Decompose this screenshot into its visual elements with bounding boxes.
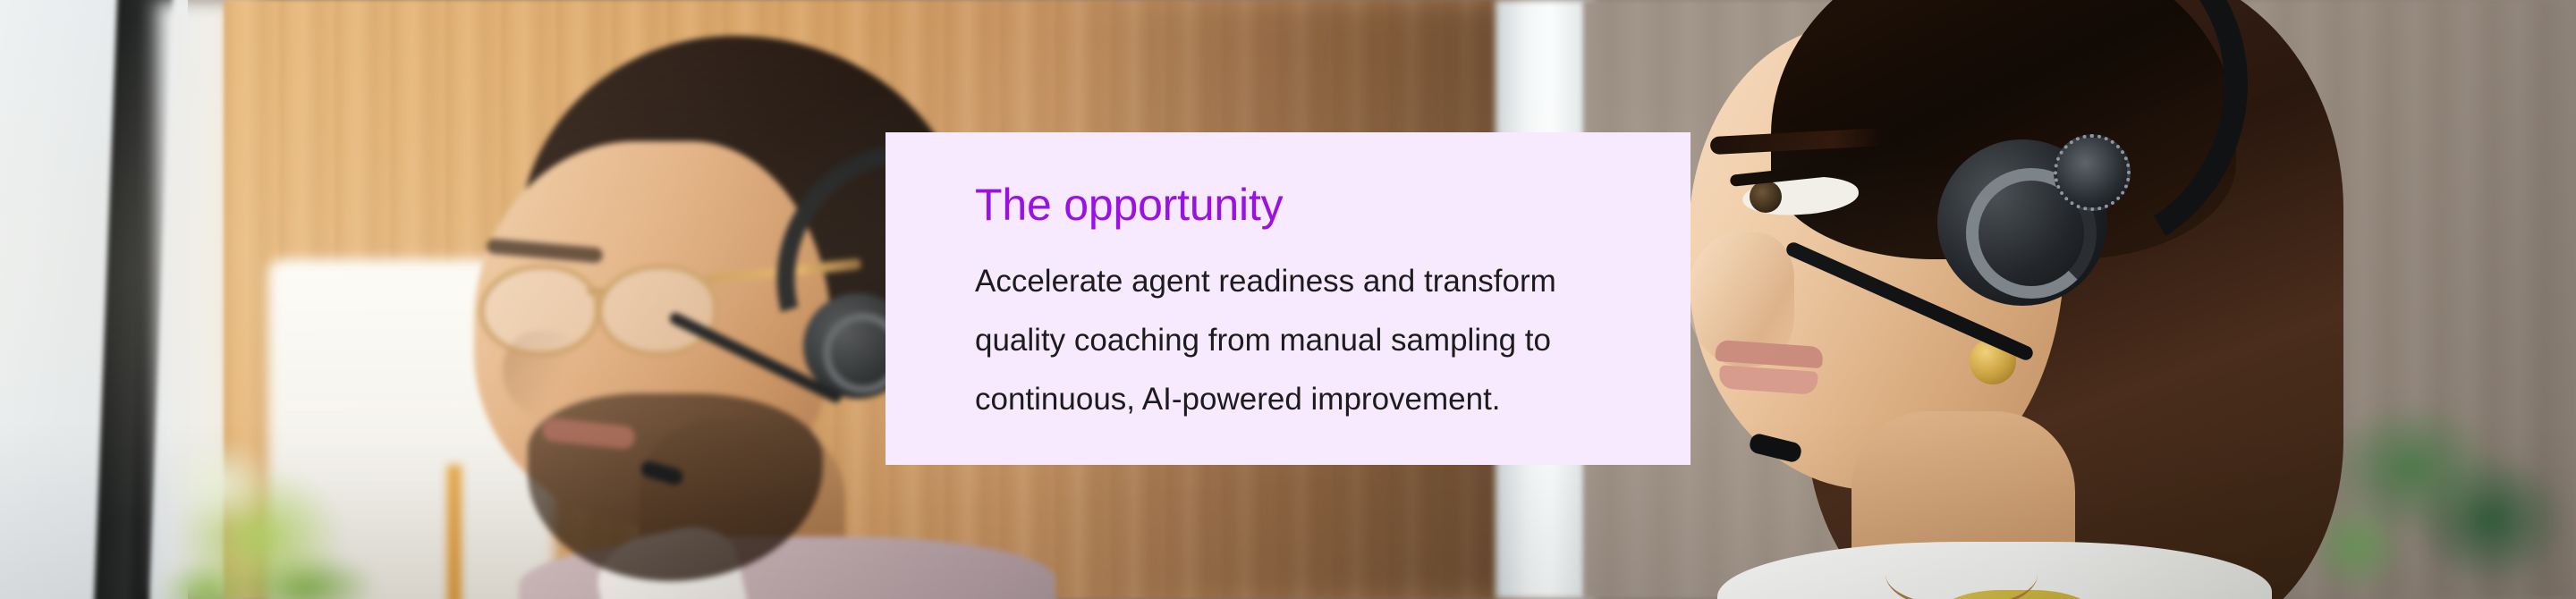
right-agent-iris [1750, 181, 1782, 213]
left-agent-glasses-lens [479, 265, 599, 356]
opportunity-callout-panel: The opportunity Accelerate agent readine… [885, 132, 1690, 465]
callout-title: The opportunity [975, 179, 1630, 231]
hero-banner: The opportunity Accelerate agent readine… [0, 0, 2576, 599]
right-agent-necklace [1885, 538, 2038, 599]
right-agent-figure [1664, 0, 2361, 599]
callout-body-text: Accelerate agent readiness and transform… [975, 252, 1610, 429]
left-agent-glasses-bridge [587, 288, 606, 295]
left-agent-glasses-lens [597, 265, 717, 356]
right-agent-headset-dial [2054, 134, 2131, 211]
lamp-stem [447, 465, 462, 599]
plant-left [143, 420, 402, 599]
